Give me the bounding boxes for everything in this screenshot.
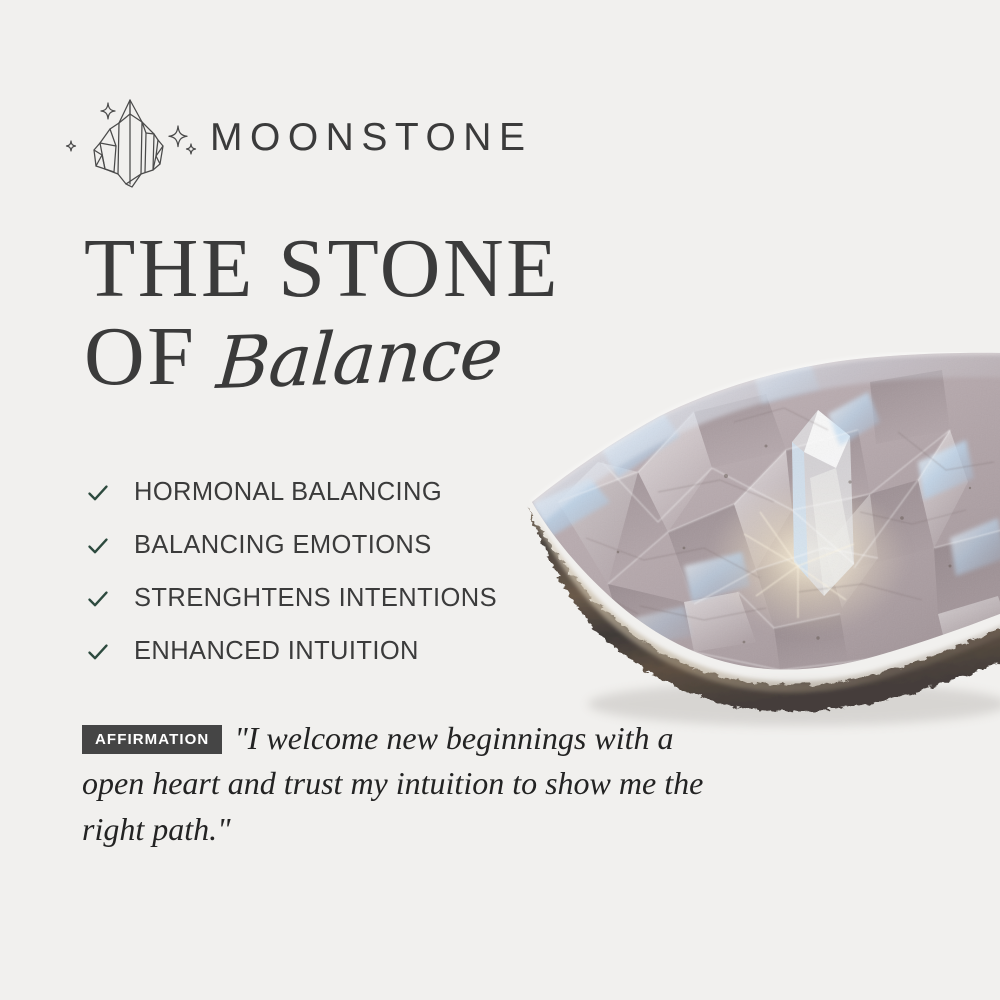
list-item: STRENGHTENS INTENTIONS <box>86 572 556 625</box>
list-item-label: STRENGHTENS INTENTIONS <box>134 584 497 613</box>
blue-flashes <box>532 362 1000 646</box>
affirmation-quote-wrap: AFFIRMATION"I welcome new beginnings wit… <box>82 716 722 852</box>
affirmation-block: AFFIRMATION"I welcome new beginnings wit… <box>82 716 722 852</box>
brand-name: MOONSTONE <box>210 116 532 160</box>
page-title: THE STONE OF Balance <box>84 228 724 401</box>
list-item-label: BALANCING EMOTIONS <box>134 531 432 560</box>
list-item: BALANCING EMOTIONS <box>86 519 556 572</box>
headline-line-1: THE STONE <box>84 228 724 310</box>
check-icon <box>86 640 110 664</box>
list-item-label: ENHANCED INTUITION <box>134 637 419 666</box>
poster-canvas: MOONSTONE THE STONE OF Balance HORMONAL … <box>0 0 1000 1000</box>
crystal-cluster-icon <box>62 88 202 188</box>
brand-logo: MOONSTONE <box>62 88 532 188</box>
list-item: ENHANCED INTUITION <box>86 625 556 678</box>
crystal-point <box>792 410 854 596</box>
list-item-label: HORMONAL BALANCING <box>134 478 442 507</box>
benefits-list: HORMONAL BALANCING BALANCING EMOTIONS ST… <box>86 466 556 678</box>
headline-script-word: Balance <box>214 311 505 405</box>
stone-rim <box>528 508 1000 712</box>
headline-line-2: OF Balance <box>84 316 724 401</box>
check-icon <box>86 534 110 558</box>
stone-body <box>498 352 1000 752</box>
check-icon <box>86 481 110 505</box>
status-badge: AFFIRMATION <box>82 725 222 754</box>
check-icon <box>86 587 110 611</box>
list-item: HORMONAL BALANCING <box>86 466 556 519</box>
headline-of: OF <box>84 316 196 398</box>
moonstone-image <box>498 352 1000 752</box>
